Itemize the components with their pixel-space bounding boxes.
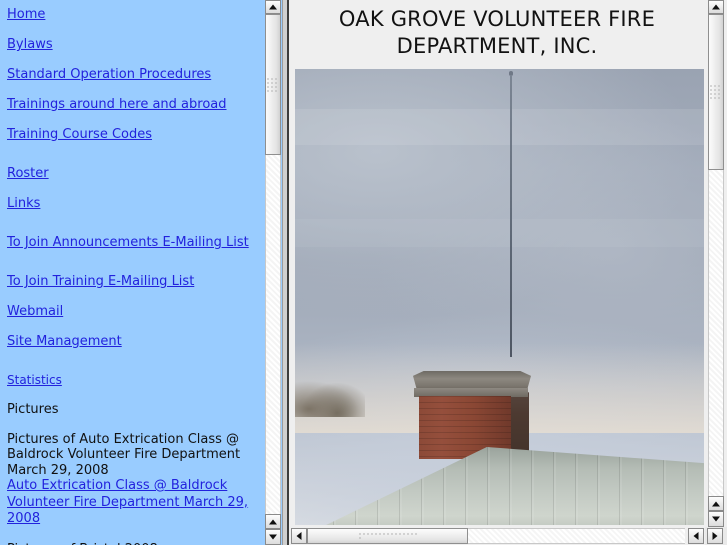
cloud-band bbox=[295, 109, 704, 145]
sidebar-item-trainings-around-here-and-abroad[interactable]: Trainings around here and abroad bbox=[7, 97, 265, 112]
distant-treeline bbox=[295, 377, 365, 417]
triangle-up-icon[interactable] bbox=[708, 496, 724, 511]
fire-station-photograph bbox=[295, 69, 704, 525]
browser-page: Home Bylaws Standard Operation Procedure… bbox=[0, 0, 727, 545]
scrollbar-thumb[interactable] bbox=[265, 14, 281, 155]
scrollbar-track[interactable] bbox=[708, 170, 724, 496]
scrollbar-thumb[interactable] bbox=[708, 14, 724, 170]
sidebar-item-webmail[interactable]: Webmail bbox=[7, 304, 265, 319]
sidebar-item-training-course-codes[interactable]: Training Course Codes bbox=[7, 127, 265, 142]
sidebar-vertical-scrollbar[interactable] bbox=[265, 0, 281, 545]
sidebar-item-standard-operation-procedures[interactable]: Standard Operation Procedures bbox=[7, 67, 265, 82]
grip-icon bbox=[266, 77, 280, 93]
sidebar-item-bylaws[interactable]: Bylaws bbox=[7, 37, 265, 52]
sidebar-item-join-announcements-list[interactable]: To Join Announcements E-Mailing List bbox=[7, 235, 265, 250]
cloud-band bbox=[295, 219, 704, 247]
scrollbar-track[interactable] bbox=[265, 155, 281, 514]
pictures-heading: Pictures bbox=[7, 402, 255, 418]
triangle-left-icon[interactable] bbox=[688, 528, 704, 544]
picture-group-link[interactable]: Auto Extrication Class @ Baldrock Volunt… bbox=[7, 478, 255, 528]
nav-spacer-2 bbox=[7, 227, 265, 235]
sidebar-item-roster[interactable]: Roster bbox=[7, 166, 265, 181]
triangle-up-icon[interactable] bbox=[708, 0, 724, 14]
page-body: OAK GROVE VOLUNTEER FIRE DEPARTMENT, INC… bbox=[289, 0, 705, 525]
nav-spacer-1 bbox=[7, 158, 265, 166]
navigation-list: Home Bylaws Standard Operation Procedure… bbox=[0, 0, 265, 545]
navigation-frame: Home Bylaws Standard Operation Procedure… bbox=[0, 0, 287, 545]
sidebar-item-site-management[interactable]: Site Management bbox=[7, 334, 265, 349]
sidebar-item-links[interactable]: Links bbox=[7, 196, 265, 211]
triangle-down-icon[interactable] bbox=[265, 529, 281, 545]
grip-icon bbox=[709, 84, 723, 100]
triangle-up-icon[interactable] bbox=[265, 514, 281, 529]
grip-icon bbox=[358, 532, 418, 540]
sidebar-item-home[interactable]: Home bbox=[7, 7, 265, 22]
sidebar-item-join-training-list[interactable]: To Join Training E-Mailing List bbox=[7, 274, 265, 289]
navigation-scroll-area: Home Bylaws Standard Operation Procedure… bbox=[0, 0, 265, 545]
nav-spacer-5 bbox=[7, 418, 265, 432]
nav-spacer-4 bbox=[7, 365, 265, 373]
nav-spacer-3 bbox=[7, 266, 265, 274]
content-frame: OAK GROVE VOLUNTEER FIRE DEPARTMENT, INC… bbox=[287, 0, 727, 545]
triangle-right-icon[interactable] bbox=[707, 528, 723, 544]
triangle-down-icon[interactable] bbox=[708, 511, 724, 527]
picture-group-caption: Pictures of Bristol 2008 bbox=[7, 542, 255, 545]
content-vertical-scrollbar[interactable] bbox=[708, 0, 724, 527]
nav-spacer-6 bbox=[7, 528, 265, 542]
frame-divider[interactable] bbox=[282, 0, 287, 545]
content-horizontal-scrollbar[interactable] bbox=[289, 527, 727, 545]
scrollbar-track[interactable] bbox=[468, 528, 685, 544]
picture-group-caption: Pictures of Auto Extrication Class @ Bal… bbox=[7, 432, 255, 479]
scrollbar-thumb[interactable] bbox=[307, 528, 468, 544]
triangle-left-icon[interactable] bbox=[291, 528, 307, 544]
sidebar-item-statistics[interactable]: Statistics bbox=[7, 373, 265, 387]
page-title: OAK GROVE VOLUNTEER FIRE DEPARTMENT, INC… bbox=[289, 0, 705, 66]
triangle-up-icon[interactable] bbox=[265, 0, 281, 14]
antenna-mast bbox=[510, 75, 512, 357]
